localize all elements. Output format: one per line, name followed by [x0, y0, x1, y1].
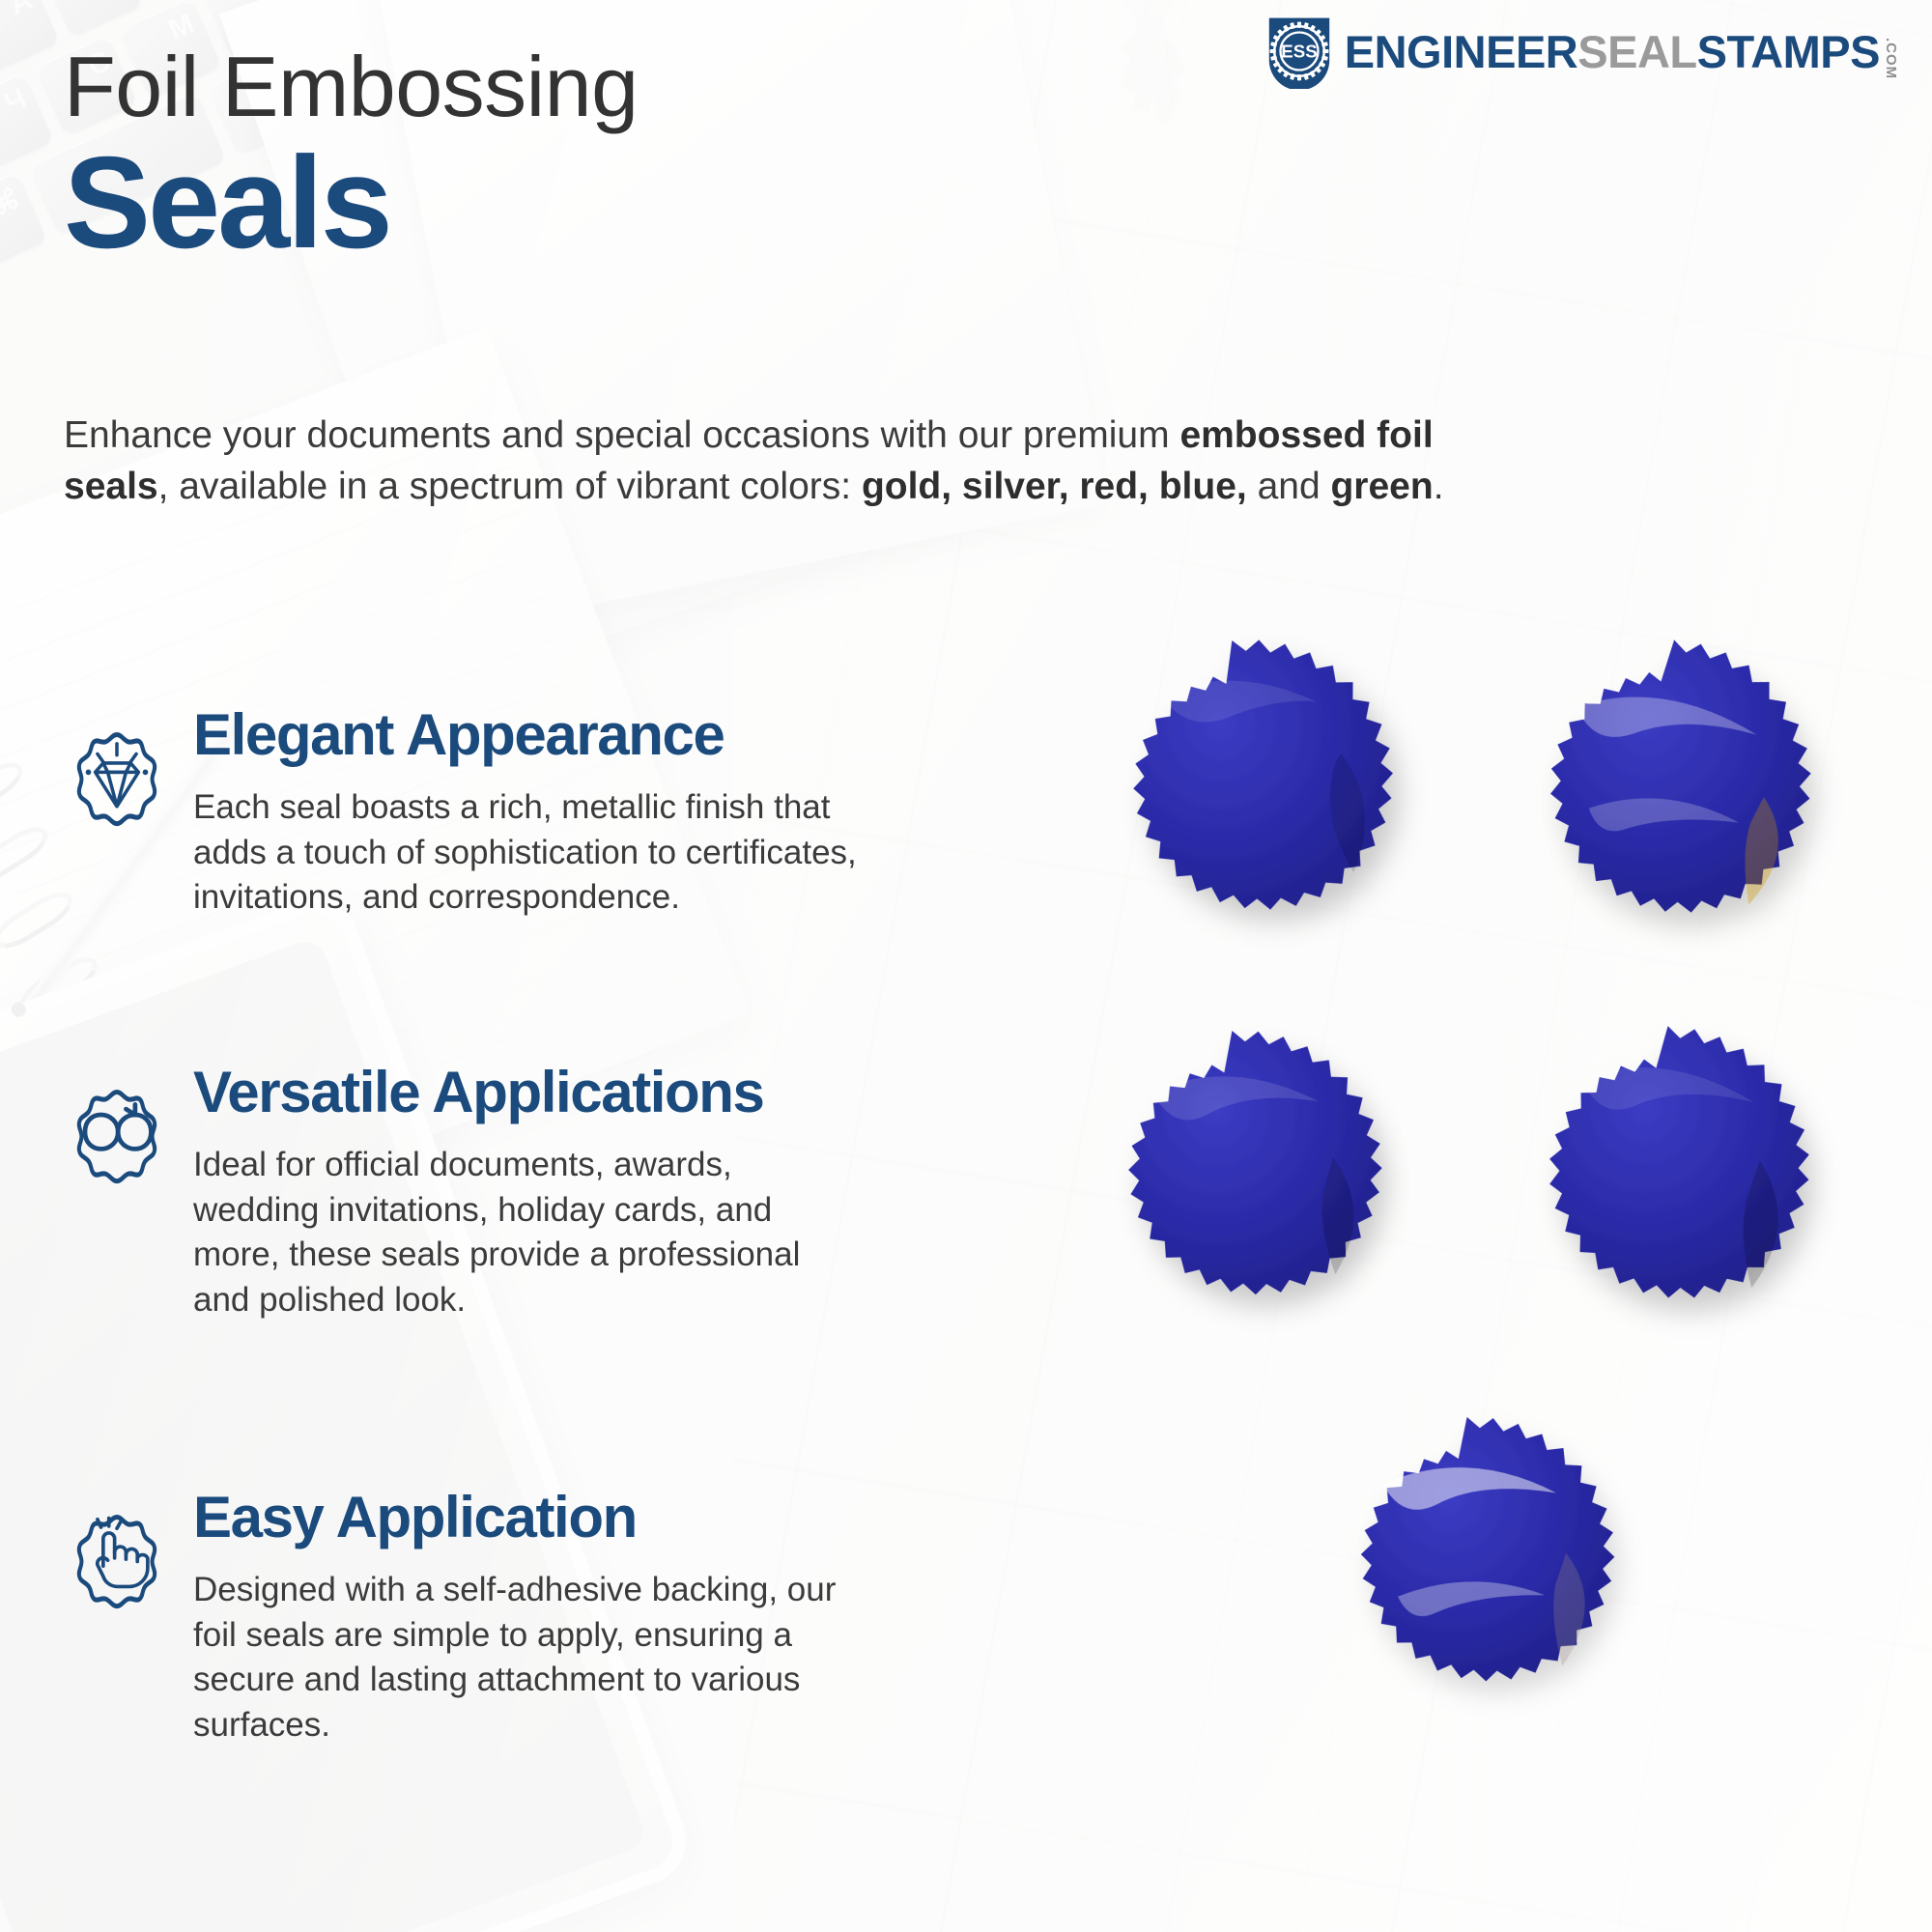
site-logo[interactable]: ESS ENGINEERSEALSTAMPS .COM	[1262, 14, 1899, 89]
red-foil-seal	[1053, 1019, 1430, 1396]
logo-word-stamps: STAMPS	[1697, 25, 1880, 78]
feature-block-elegant-appearance: Elegant Appearance Each seal boasts a ri…	[60, 705, 860, 921]
intro-paragraph: Enhance your documents and special occas…	[64, 410, 1542, 512]
feature-block-versatile-applications: Versatile Applications Ideal for officia…	[60, 1063, 811, 1322]
green-foil-seal	[1468, 1014, 1855, 1401]
feature-block-easy-application: Easy Application Designed with a self-ad…	[60, 1488, 879, 1747]
intro-text-1: Enhance your documents and special occas…	[64, 414, 1179, 456]
infinity-arrow-badge-icon	[60, 1063, 174, 1322]
silver-foil-seal	[1285, 1406, 1662, 1782]
diamond-badge-icon	[60, 705, 174, 921]
feature-body: Each seal boasts a rich, metallic finish…	[193, 785, 860, 921]
intro-text-4: .	[1434, 466, 1444, 507]
logo-mark-text: ESS	[1281, 42, 1317, 62]
feature-body: Designed with a self-adhesive backing, o…	[193, 1568, 879, 1747]
page-title-line2: Seals	[64, 137, 390, 268]
gold-foil-seal	[1468, 628, 1855, 1014]
pointing-hand-badge-icon	[60, 1488, 174, 1747]
page-title-line1: Foil Embossing	[64, 44, 639, 129]
ess-gear-badge-icon: ESS	[1262, 14, 1337, 89]
logo-word-engineer: ENGINEER	[1345, 25, 1578, 78]
feature-title: Easy Application	[193, 1488, 879, 1547]
intro-bold-2: gold, silver, red, blue,	[862, 466, 1247, 507]
logo-word-dotcom: .COM	[1883, 38, 1899, 79]
logo-word-seal: SEAL	[1577, 25, 1696, 78]
feature-title: Versatile Applications	[193, 1063, 811, 1122]
intro-text-2: , available in a spectrum of vibrant col…	[158, 466, 862, 507]
feature-title: Elegant Appearance	[193, 705, 860, 764]
intro-bold-3: green	[1330, 466, 1433, 507]
feature-body: Ideal for official documents, awards, we…	[193, 1143, 811, 1322]
intro-text-3: and	[1247, 466, 1331, 507]
blue-foil-seal	[1058, 628, 1444, 1014]
